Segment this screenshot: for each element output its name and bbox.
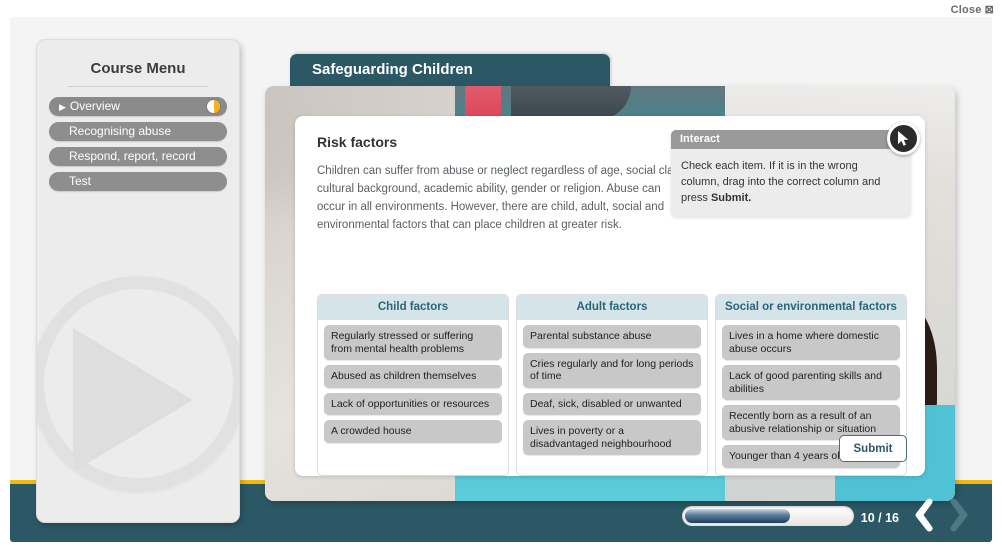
- close-icon: ⊠: [985, 4, 994, 16]
- sidebar-divider: [68, 86, 208, 87]
- column-items: Parental substance abuse Cries regularly…: [517, 320, 707, 465]
- course-player: Close⊠ Course Menu ▶Overview Recognising…: [0, 0, 1002, 550]
- list-item[interactable]: Abused as children themselves: [324, 365, 502, 388]
- top-close-bar: Close⊠: [0, 0, 1002, 17]
- sidebar-item-test[interactable]: Test: [49, 172, 227, 191]
- list-item[interactable]: A crowded house: [324, 420, 502, 443]
- content-card: Risk factors Children can suffer from ab…: [265, 86, 955, 501]
- interact-instructions: Check each item. If it is in the wrong c…: [671, 149, 911, 217]
- column-header: Social or environmental factors: [716, 295, 906, 320]
- sidebar-item-recognising-abuse[interactable]: Recognising abuse: [49, 122, 227, 141]
- sidebar-item-label: Overview: [70, 99, 120, 113]
- sidebar-item-overview[interactable]: ▶Overview: [49, 97, 227, 116]
- list-item[interactable]: Lack of good parenting skills and abilit…: [722, 365, 900, 400]
- page-title: Safeguarding Children: [290, 54, 610, 86]
- chevron-left-icon[interactable]: [909, 496, 937, 534]
- column-items: Regularly stressed or suffering from men…: [318, 320, 508, 453]
- close-label: Close: [951, 4, 982, 16]
- sidebar-item-respond-report-record[interactable]: Respond, report, record: [49, 147, 227, 166]
- chevron-right-icon[interactable]: [946, 496, 974, 534]
- section-body-text: Children can suffer from abuse or neglec…: [317, 162, 689, 234]
- play-button-watermark: [36, 266, 240, 516]
- list-item[interactable]: Cries regularly and for long periods of …: [523, 353, 701, 388]
- column-header: Child factors: [318, 295, 508, 320]
- column-child-factors[interactable]: Child factors Regularly stressed or suff…: [317, 294, 509, 476]
- submit-button[interactable]: Submit: [839, 435, 907, 462]
- progress-bar[interactable]: [682, 506, 854, 526]
- column-adult-factors[interactable]: Adult factors Parental substance abuse C…: [516, 294, 708, 476]
- list-item[interactable]: Lives in a home where domestic abuse occ…: [722, 325, 900, 360]
- course-menu-title: Course Menu: [37, 60, 239, 77]
- list-item[interactable]: Regularly stressed or suffering from men…: [324, 325, 502, 360]
- sorting-columns: Child factors Regularly stressed or suff…: [317, 294, 907, 476]
- page-indicator: 10 / 16: [861, 511, 899, 525]
- list-item[interactable]: Deaf, sick, disabled or unwanted: [523, 393, 701, 416]
- progress-fill: [685, 509, 790, 523]
- sidebar-item-label: Respond, report, record: [69, 149, 196, 163]
- half-pie-icon: [207, 100, 220, 113]
- play-arrow-icon: ▶: [59, 102, 66, 112]
- column-header: Adult factors: [517, 295, 707, 320]
- interact-heading: Interact: [671, 130, 911, 149]
- list-item[interactable]: Parental substance abuse: [523, 325, 701, 348]
- list-item[interactable]: Lives in poverty or a disadvantaged neig…: [523, 420, 701, 455]
- list-item[interactable]: Lack of opportunities or resources: [324, 393, 502, 416]
- cursor-arrow-icon: [887, 122, 920, 155]
- course-menu-list: ▶Overview Recognising abuse Respond, rep…: [37, 97, 239, 191]
- submit-row: Submit: [839, 435, 907, 462]
- player-stage: Course Menu ▶Overview Recognising abuse …: [10, 17, 992, 542]
- course-menu-panel: Course Menu ▶Overview Recognising abuse …: [36, 39, 240, 523]
- interact-callout: Interact Check each item. If it is in th…: [671, 130, 911, 217]
- sidebar-item-label: Test: [69, 174, 91, 188]
- interact-bold-text: Submit.: [711, 192, 751, 204]
- sidebar-item-label: Recognising abuse: [69, 124, 171, 138]
- lesson-panel: Risk factors Children can suffer from ab…: [295, 116, 925, 476]
